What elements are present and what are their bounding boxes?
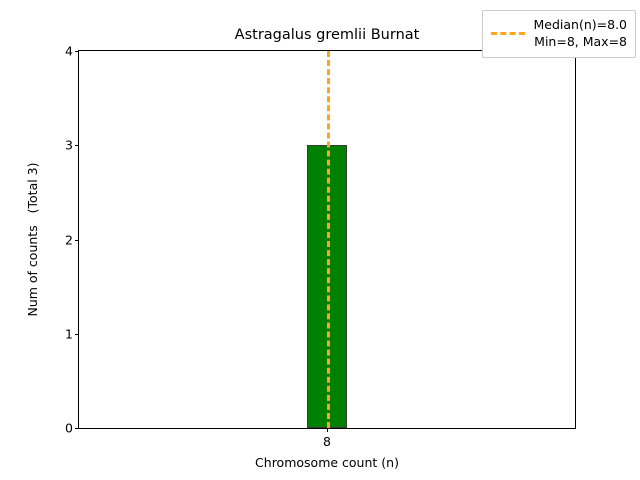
plot-area: 012348: [78, 50, 576, 429]
y-tick-label: 3: [65, 138, 73, 153]
median-line: [327, 51, 330, 428]
y-tick-mark: [75, 240, 79, 241]
legend-label-line1: Median(n)=8.0: [534, 17, 628, 34]
x-tick-label: 8: [323, 434, 331, 449]
legend-entry-label: Median(n)=8.0 Min=8, Max=8: [534, 17, 628, 51]
y-tick-label: 0: [65, 421, 73, 436]
dashed-line-icon: [491, 27, 525, 41]
y-tick-mark: [75, 145, 79, 146]
matplotlib-figure: Astragalus gremlii Burnat 012348 Chromos…: [0, 0, 640, 480]
y-tick-label: 1: [65, 326, 73, 341]
y-tick-label: 4: [65, 44, 73, 59]
y-tick-mark: [75, 334, 79, 335]
y-tick-label: 2: [65, 232, 73, 247]
y-tick-mark: [75, 51, 79, 52]
legend: Median(n)=8.0 Min=8, Max=8: [482, 10, 637, 58]
y-tick-mark: [75, 428, 79, 429]
y-axis-label: Num of counts (Total 3): [22, 50, 44, 429]
x-tick-mark: [327, 428, 328, 432]
legend-entry-median: Median(n)=8.0 Min=8, Max=8: [491, 17, 628, 51]
legend-label-line2: Min=8, Max=8: [534, 34, 628, 51]
x-axis-label: Chromosome count (n): [78, 455, 576, 470]
